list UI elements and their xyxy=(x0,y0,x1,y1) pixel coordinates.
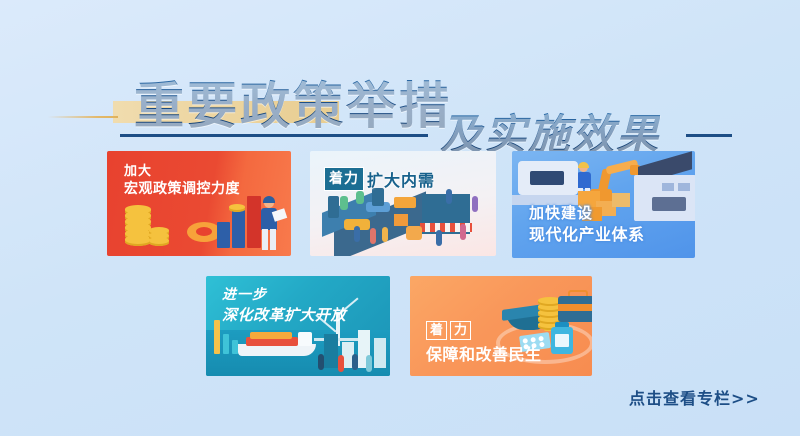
card-caption: 着 力 保障和改善民生 xyxy=(426,321,542,366)
card-caption-line2: 保障和改善民生 xyxy=(426,344,542,366)
factory-window xyxy=(662,183,674,191)
view-column-link[interactable]: 点击查看专栏>> xyxy=(629,385,760,409)
tree-icon xyxy=(356,191,364,204)
coin-stack-icon xyxy=(125,202,169,246)
machine-panel xyxy=(530,171,564,185)
briefcase-icon xyxy=(558,290,592,324)
person-figure xyxy=(318,354,324,370)
poster-canvas: 重要政策举措 及实施效果 xyxy=(0,0,800,436)
parcel-box xyxy=(406,226,422,240)
person-figure xyxy=(352,354,358,370)
person-figure xyxy=(354,226,360,242)
card-macro-policy[interactable]: 加大 宏观政策调控力度 xyxy=(107,151,291,256)
donut-icon xyxy=(187,222,221,242)
card-caption-tag: 着力 xyxy=(324,167,364,191)
page-title: 重要政策举措 xyxy=(134,79,452,133)
person-figure xyxy=(436,230,442,246)
title-trailing-rule xyxy=(686,134,732,137)
card-caption-line2: 扩大内需 xyxy=(367,167,435,191)
card-caption-line2: 宏观政策调控力度 xyxy=(124,180,240,199)
person-figure xyxy=(366,355,372,372)
person-figure xyxy=(370,228,376,244)
card-caption: 加大 宏观政策调控力度 xyxy=(124,163,240,199)
poster-title-block: 重要政策举措 及实施效果 xyxy=(0,38,800,130)
title-underline xyxy=(120,134,428,137)
factory-machine xyxy=(652,197,686,211)
city-building xyxy=(324,334,338,368)
card-caption-line2: 现代化产业体系 xyxy=(529,224,645,246)
card-caption: 着力 扩大内需 xyxy=(324,167,435,191)
card-caption-line1: 进一步 xyxy=(222,286,346,305)
tree-icon xyxy=(340,196,348,210)
card-caption-line2: 深化改革扩大开放 xyxy=(222,305,346,326)
bar-chart-icon xyxy=(217,192,271,248)
card-caption-line1: 加快建设 xyxy=(529,203,645,224)
card-domestic-demand[interactable]: 着力 扩大内需 xyxy=(310,151,496,256)
person-figure xyxy=(472,196,478,212)
factory-window xyxy=(678,183,690,191)
card-livelihood[interactable]: 着 力 保障和改善民生 xyxy=(410,276,592,376)
card-caption: 加快建设 现代化产业体系 xyxy=(529,203,645,246)
card-caption: 进一步 深化改革扩大开放 xyxy=(222,286,346,326)
title-gold-rule xyxy=(48,116,118,118)
card-reform-opening[interactable]: 进一步 深化改革扩大开放 xyxy=(206,276,390,376)
card-modern-industry[interactable]: 加快建设 现代化产业体系 xyxy=(512,151,695,258)
parcel-box xyxy=(394,214,408,226)
person-figure xyxy=(446,189,452,204)
person-figure xyxy=(460,224,466,240)
medicine-bottle-icon xyxy=(550,322,574,354)
person-figure xyxy=(382,227,388,242)
delivery-truck-icon xyxy=(394,197,416,208)
card-caption-tag-row: 着 力 xyxy=(426,321,542,340)
billboard xyxy=(328,196,339,218)
card-caption-tag-char-1: 着 xyxy=(426,321,447,340)
card-caption-tag-char-2: 力 xyxy=(450,321,471,340)
cargo-ship-icon xyxy=(238,330,316,356)
card-caption-line1: 加大 xyxy=(124,163,240,180)
city-building xyxy=(374,338,386,368)
person-figure xyxy=(338,355,344,372)
